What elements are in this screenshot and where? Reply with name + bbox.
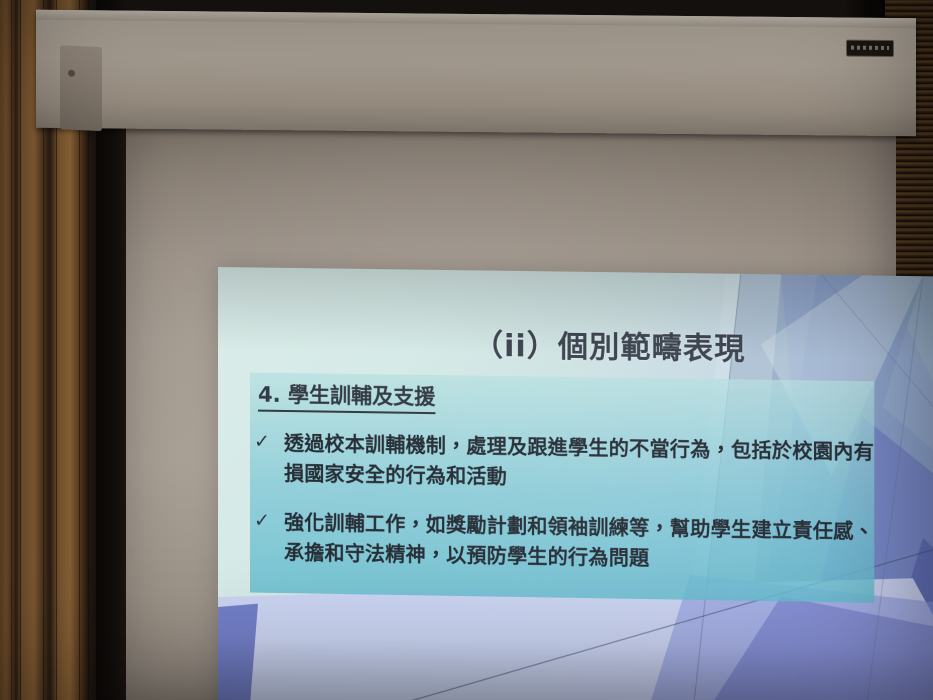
section-heading: 4. 學生訓輔及支援 [258,383,435,415]
housing-brand-label [846,40,894,57]
projection-screen-surface: （ii）個別範疇表現 4. 學生訓輔及支援 ✓ 透過校本訓輔機制，處理及跟進學生… [126,104,896,700]
slide-content: （ii）個別範疇表現 4. 學生訓輔及支援 ✓ 透過校本訓輔機制，處理及跟進學生… [218,267,933,700]
bullet-list: ✓ 透過校本訓輔機制，處理及跟進學生的不當行為，包括於校園內有損國家安全的行為和… [254,428,878,596]
projected-slide: （ii）個別範疇表現 4. 學生訓輔及支援 ✓ 透過校本訓輔機制，處理及跟進學生… [218,267,933,700]
slide-title: （ii）個別範疇表現 [218,317,933,372]
checkmark-icon: ✓ [254,428,284,457]
housing-mount-bracket [60,45,102,131]
bullet-text-1: 透過校本訓輔機制，處理及跟進學生的不當行為，包括於校園內有損國家安全的行為和活動 [284,428,878,498]
photo-scene: （ii）個別範疇表現 4. 學生訓輔及支援 ✓ 透過校本訓輔機制，處理及跟進學生… [0,0,933,700]
bullet-item-2: ✓ 強化訓輔工作，如獎勵計劃和領袖訓練等，幫助學生建立責任感、承擔和守法精神，以… [254,506,878,577]
checkmark-icon: ✓ [254,506,284,535]
projector-screen-housing [36,10,916,136]
bullet-item-1: ✓ 透過校本訓輔機制，處理及跟進學生的不當行為，包括於校園內有損國家安全的行為和… [254,428,878,498]
bullet-text-2: 強化訓輔工作，如獎勵計劃和領袖訓練等，幫助學生建立責任感、承擔和守法精神，以預防… [284,507,878,577]
